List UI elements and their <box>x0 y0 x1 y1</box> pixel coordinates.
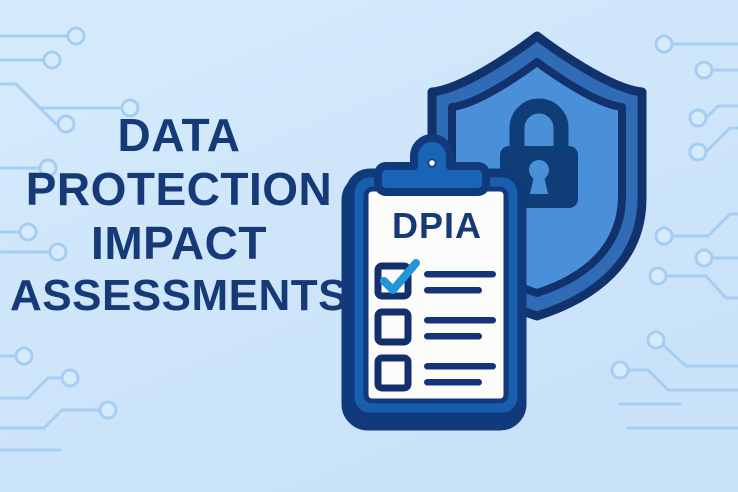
clipboard-icon <box>346 138 522 426</box>
illustration-group <box>0 0 738 492</box>
text-line-3a <box>424 363 496 370</box>
text-line-3b <box>424 379 482 386</box>
clip-hole <box>428 159 435 166</box>
text-line-1b <box>424 287 482 294</box>
banner-canvas: DATA PROTECTION IMPACT ASSESSMENTS DPIA <box>0 0 738 492</box>
text-line-1a <box>424 271 496 278</box>
text-line-2b <box>424 333 482 340</box>
checkbox-3[interactable] <box>378 358 408 388</box>
checkbox-2[interactable] <box>378 312 408 342</box>
text-line-2a <box>424 317 496 324</box>
